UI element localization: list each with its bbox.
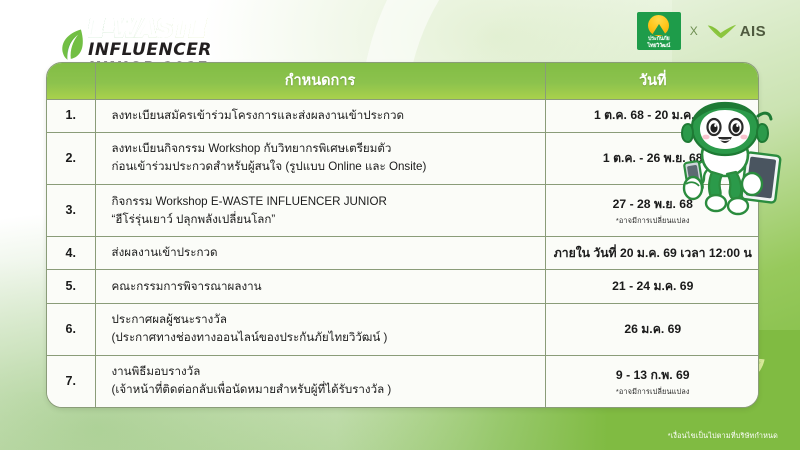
row-item-line2: (เจ้าหน้าที่ติดต่อกลับเพื่อนัดหมายสำหรับ… xyxy=(112,381,535,399)
brand-logos: ประกันภัย ไทยวิวัฒน์ X AIS xyxy=(637,12,766,50)
row-item-line1: ลงทะเบียนกิจกรรม Workshop กับวิทยากรพิเศ… xyxy=(112,140,535,158)
row-number: 3. xyxy=(47,184,95,236)
row-date-note: *อาจมีการเปลี่ยนแปลง xyxy=(552,386,755,397)
row-date: 26 ม.ค. 69 xyxy=(545,303,759,355)
thaivivat-logo-sub: ประกันภัย xyxy=(648,37,669,43)
table-row: 4.ส่งผลงานเข้าประกวดภายใน วันที่ 20 ม.ค.… xyxy=(47,237,759,270)
row-item-line1: กิจกรรม Workshop E-WASTE INFLUENCER JUNI… xyxy=(112,193,535,211)
row-number: 7. xyxy=(47,355,95,407)
table-header-row: กำหนดการ วันที่ xyxy=(47,63,759,99)
row-item-line1: ส่งผลงานเข้าประกวด xyxy=(112,244,535,262)
row-date-value: 9 - 13 ก.พ. 69 xyxy=(616,368,690,382)
row-item-line2: (ประกาศทางช่องทางออนไลน์ของประกันภัยไทยว… xyxy=(112,329,535,347)
logo-line-1: E-WASTE xyxy=(88,18,226,41)
schedule-table-card: กำหนดการ วันที่ 1.ลงทะเบียนสมัครเข้าร่วม… xyxy=(46,62,759,408)
thaivivat-logo-name: ไทยวิวัฒน์ xyxy=(647,44,670,50)
col-header-item: กำหนดการ xyxy=(95,63,545,99)
row-date: 21 - 24 ม.ค. 69 xyxy=(545,270,759,303)
table-row: 2.ลงทะเบียนกิจกรรม Workshop กับวิทยากรพิ… xyxy=(47,132,759,184)
row-date: 9 - 13 ก.พ. 69*อาจมีการเปลี่ยนแปลง xyxy=(545,355,759,407)
row-item: งานพิธีมอบรางวัล(เจ้าหน้าที่ติดต่อกลับเพ… xyxy=(95,355,545,407)
row-date-value: 21 - 24 ม.ค. 69 xyxy=(612,279,693,293)
table-row: 5.คณะกรรมการพิจารณาผลงาน21 - 24 ม.ค. 69 xyxy=(47,270,759,303)
table-body: 1.ลงทะเบียนสมัครเข้าร่วมโครงการและส่งผลง… xyxy=(47,99,759,407)
row-item-line1: ประกาศผลผู้ชนะรางวัล xyxy=(112,311,535,329)
row-item: ลงทะเบียนกิจกรรม Workshop กับวิทยากรพิเศ… xyxy=(95,132,545,184)
thaivivat-mark-icon xyxy=(648,15,669,36)
row-item-line2: ก่อนเข้าร่วมประกวดสำหรับผู้สนใจ (รูปแบบ … xyxy=(112,158,535,176)
row-date: ภายใน วันที่ 20 ม.ค. 69 เวลา 12:00 น xyxy=(545,237,759,270)
row-number: 5. xyxy=(47,270,95,303)
row-item: ส่งผลงานเข้าประกวด xyxy=(95,237,545,270)
col-header-date: วันที่ xyxy=(545,63,759,99)
row-item: ประกาศผลผู้ชนะรางวัล(ประกาศทางช่องทางออน… xyxy=(95,303,545,355)
table-row: 7.งานพิธีมอบรางวัล(เจ้าหน้าที่ติดต่อกลับ… xyxy=(47,355,759,407)
row-item: กิจกรรม Workshop E-WASTE INFLUENCER JUNI… xyxy=(95,184,545,236)
row-item-line1: งานพิธีมอบรางวัล xyxy=(112,363,535,381)
table-row: 3.กิจกรรม Workshop E-WASTE INFLUENCER JU… xyxy=(47,184,759,236)
ais-logo: AIS xyxy=(707,23,766,40)
table-row: 6.ประกาศผลผู้ชนะรางวัล(ประกาศทางช่องทางอ… xyxy=(47,303,759,355)
poster-root: E-WASTE E-WASTE INFLUENCER JUNIOR 2025 ป… xyxy=(0,0,800,450)
row-number: 6. xyxy=(47,303,95,355)
footer-disclaimer: *เงื่อนไขเป็นไปตามที่บริษัทกำหนด xyxy=(668,431,778,442)
row-date-value: 26 ม.ค. 69 xyxy=(624,322,681,336)
ais-swoosh-icon xyxy=(707,23,737,40)
schedule-table: กำหนดการ วันที่ 1.ลงทะเบียนสมัครเข้าร่วม… xyxy=(47,63,759,407)
col-header-no xyxy=(47,63,95,99)
row-item-line2: “ฮีโร่รุ่นเยาว์ ปลุกพลังเปลี่ยนโลก” xyxy=(112,211,535,229)
row-number: 2. xyxy=(47,132,95,184)
row-number: 4. xyxy=(47,237,95,270)
row-item: ลงทะเบียนสมัครเข้าร่วมโครงการและส่งผลงาน… xyxy=(95,99,545,132)
logo-line-2: INFLUENCER xyxy=(88,42,226,59)
row-item-line1: ลงทะเบียนสมัครเข้าร่วมโครงการและส่งผลงาน… xyxy=(112,107,535,125)
robot-mascot-icon xyxy=(668,96,786,231)
table-row: 1.ลงทะเบียนสมัครเข้าร่วมโครงการและส่งผลง… xyxy=(47,99,759,132)
row-date-value: ภายใน วันที่ 20 ม.ค. 69 เวลา 12:00 น xyxy=(554,246,752,260)
row-number: 1. xyxy=(47,99,95,132)
table-head: กำหนดการ วันที่ xyxy=(47,63,759,99)
thaivivat-logo: ประกันภัย ไทยวิวัฒน์ xyxy=(637,12,681,50)
row-item-line1: คณะกรรมการพิจารณาผลงาน xyxy=(112,278,535,296)
row-item: คณะกรรมการพิจารณาผลงาน xyxy=(95,270,545,303)
brand-separator: X xyxy=(690,24,698,38)
ais-logo-text: AIS xyxy=(740,23,766,40)
